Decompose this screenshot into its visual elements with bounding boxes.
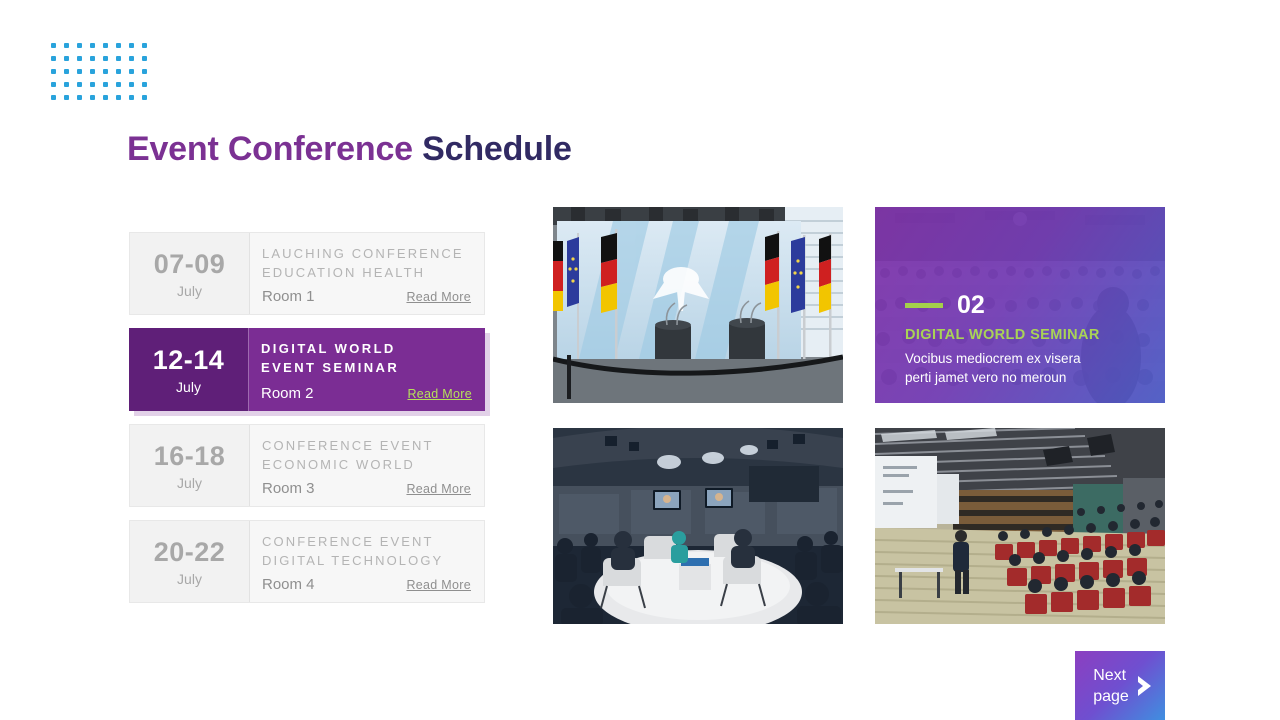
schedule-row-body: LAUCHING CONFERENCEEDUCATION HEALTHRoom … xyxy=(250,233,484,314)
dot xyxy=(129,95,134,100)
overlay-desc-line2: perti jamet vero no meroun xyxy=(905,368,1147,387)
schedule-row-body: CONFERENCE EVENTECONOMIC WORLDRoom 3Read… xyxy=(250,425,484,506)
next-page-label: Next page xyxy=(1093,665,1129,707)
dot xyxy=(142,69,147,74)
schedule-date-range: 20-22 xyxy=(154,539,226,566)
schedule-row-footer: Room 2Read More xyxy=(261,385,472,402)
photo-press-conference-flags[interactable] xyxy=(553,207,843,403)
schedule-date-box: 07-09July xyxy=(130,233,250,314)
dot xyxy=(90,56,95,61)
schedule-date-box: 16-18July xyxy=(130,425,250,506)
schedule-list: 07-09JulyLAUCHING CONFERENCEEDUCATION HE… xyxy=(129,232,485,616)
dot xyxy=(103,69,108,74)
page-title-main: Schedule xyxy=(422,130,572,168)
dot xyxy=(129,69,134,74)
read-more-link[interactable]: Read More xyxy=(406,578,471,592)
slide-root: Event Conference Schedule 07-09JulyLAUCH… xyxy=(0,0,1280,720)
overlay-card: 02 DIGITAL WORLD SEMINAR Vocibus mediocr… xyxy=(905,293,1147,387)
schedule-date-box: 12-14July xyxy=(129,328,249,411)
schedule-row-body: DIGITAL WORLDEVENT SEMINARRoom 2Read Mor… xyxy=(249,328,485,411)
dot xyxy=(103,82,108,87)
dot xyxy=(77,56,82,61)
dot xyxy=(116,82,121,87)
schedule-room: Room 2 xyxy=(261,385,314,402)
schedule-row-active[interactable]: 12-14JulyDIGITAL WORLDEVENT SEMINARRoom … xyxy=(129,328,485,411)
schedule-row-body: CONFERENCE EVENTDIGITAL TECHNOLOGYRoom 4… xyxy=(250,521,484,602)
dot xyxy=(51,95,56,100)
dot xyxy=(103,56,108,61)
dot xyxy=(116,69,121,74)
dot xyxy=(77,69,82,74)
schedule-row-footer: Room 3Read More xyxy=(262,480,471,497)
read-more-link[interactable]: Read More xyxy=(406,290,471,304)
schedule-title-line2: EVENT SEMINAR xyxy=(261,358,485,377)
schedule-room: Room 1 xyxy=(262,288,315,305)
dot xyxy=(142,95,147,100)
schedule-title-line1: CONFERENCE EVENT xyxy=(262,532,484,551)
dot xyxy=(129,43,134,48)
dot xyxy=(51,69,56,74)
schedule-title-line2: EDUCATION HEALTH xyxy=(262,263,484,282)
dot xyxy=(103,95,108,100)
overlay-desc-line1: Vocibus mediocrem ex visera xyxy=(905,349,1147,368)
overlay-number: 02 xyxy=(957,293,985,318)
dot xyxy=(129,56,134,61)
dot xyxy=(129,82,134,87)
schedule-title-line2: DIGITAL TECHNOLOGY xyxy=(262,551,484,570)
dot xyxy=(51,82,56,87)
dot-grid-icon xyxy=(51,43,155,108)
schedule-title-line1: DIGITAL WORLD xyxy=(261,339,485,358)
schedule-date-range: 07-09 xyxy=(154,251,226,278)
schedule-row[interactable]: 07-09JulyLAUCHING CONFERENCEEDUCATION HE… xyxy=(129,232,485,315)
schedule-row[interactable]: 16-18JulyCONFERENCE EVENTECONOMIC WORLDR… xyxy=(129,424,485,507)
photo-press-conference-flags-image xyxy=(553,207,843,403)
dot xyxy=(90,82,95,87)
dot xyxy=(77,43,82,48)
overlay-dash-icon xyxy=(905,303,943,308)
dot xyxy=(142,43,147,48)
overlay-number-row: 02 xyxy=(905,293,1147,318)
schedule-row-footer: Room 4Read More xyxy=(262,576,471,593)
dot xyxy=(142,56,147,61)
dot xyxy=(116,43,121,48)
schedule-room: Room 3 xyxy=(262,480,315,497)
photo-auditorium-crowd[interactable]: 02 DIGITAL WORLD SEMINAR Vocibus mediocr… xyxy=(875,207,1165,403)
dot xyxy=(64,69,69,74)
overlay-title: DIGITAL WORLD SEMINAR xyxy=(905,327,1147,343)
dot xyxy=(90,43,95,48)
dot xyxy=(116,95,121,100)
dot xyxy=(116,56,121,61)
photo-panel-discussion[interactable] xyxy=(553,428,843,624)
schedule-date-box: 20-22July xyxy=(130,521,250,602)
page-title: Event Conference Schedule xyxy=(127,130,572,169)
dot xyxy=(51,56,56,61)
dot xyxy=(90,69,95,74)
schedule-row-footer: Room 1Read More xyxy=(262,288,471,305)
photo-lecture-hall[interactable] xyxy=(875,428,1165,624)
dot xyxy=(64,43,69,48)
dot xyxy=(77,95,82,100)
schedule-date-range: 12-14 xyxy=(153,347,225,374)
schedule-row[interactable]: 20-22JulyCONFERENCE EVENTDIGITAL TECHNOL… xyxy=(129,520,485,603)
schedule-date-range: 16-18 xyxy=(154,443,226,470)
schedule-title-line2: ECONOMIC WORLD xyxy=(262,455,484,474)
page-title-accent: Event Conference xyxy=(127,130,413,168)
photo-lecture-hall-image xyxy=(875,428,1165,624)
photo-panel-discussion-image xyxy=(553,428,843,624)
schedule-date-month: July xyxy=(177,476,202,490)
schedule-room: Room 4 xyxy=(262,576,315,593)
schedule-date-month: July xyxy=(176,380,201,394)
dot xyxy=(142,82,147,87)
dot xyxy=(64,95,69,100)
read-more-link[interactable]: Read More xyxy=(407,387,472,401)
dot xyxy=(77,82,82,87)
chevron-right-icon xyxy=(1135,674,1153,698)
dot xyxy=(90,95,95,100)
schedule-title-line1: CONFERENCE EVENT xyxy=(262,436,484,455)
schedule-date-month: July xyxy=(177,284,202,298)
schedule-date-month: July xyxy=(177,572,202,586)
dot xyxy=(64,82,69,87)
dot xyxy=(103,43,108,48)
dot xyxy=(51,43,56,48)
read-more-link[interactable]: Read More xyxy=(406,482,471,496)
schedule-title-line1: LAUCHING CONFERENCE xyxy=(262,244,484,263)
dot xyxy=(64,56,69,61)
next-page-button[interactable]: Next page xyxy=(1075,651,1165,720)
